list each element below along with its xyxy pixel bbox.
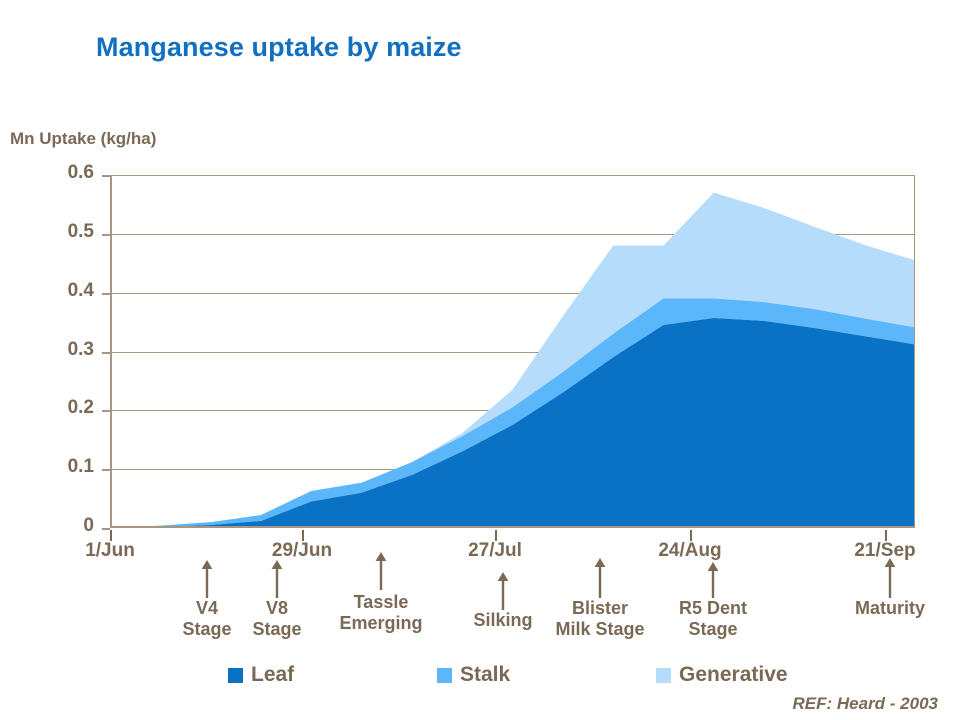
stage-label: V4Stage (182, 598, 231, 640)
legend-swatch-icon (228, 668, 243, 683)
stage-label-line2: Emerging (339, 613, 422, 634)
y-tick-label: 0.2 (32, 397, 94, 419)
page-title: Manganese uptake by maize (96, 32, 462, 63)
x-tick-label: 29/Jun (272, 540, 332, 562)
x-tick-label: 1/Jun (85, 540, 135, 562)
stage-label-line1: R5 Dent (679, 598, 747, 619)
stage-label-line2: Stage (252, 619, 301, 640)
stage-label-line2: Milk Stage (555, 619, 644, 640)
stage-label-line1: Blister (555, 598, 644, 619)
y-tick-mark (102, 234, 110, 236)
y-tick-label: 0.3 (32, 339, 94, 361)
legend-swatch-icon (656, 668, 671, 683)
y-axis-title: Mn Uptake (kg/ha) (10, 129, 156, 149)
x-tick-label: 27/Jul (468, 540, 522, 562)
y-tick-label: 0.4 (32, 280, 94, 302)
stage-arrow-icon (374, 552, 388, 590)
stage-arrow-icon (883, 558, 897, 598)
y-tick-label: 0.1 (32, 456, 94, 478)
stage-label-line1: Silking (473, 610, 532, 631)
y-tick-label: 0 (32, 515, 94, 537)
stacked-area-series (110, 175, 915, 528)
stage-label: R5 DentStage (679, 598, 747, 640)
stage-arrow-icon (200, 560, 214, 598)
legend-swatch-icon (437, 668, 452, 683)
stage-label-line1: V4 (182, 598, 231, 619)
plot-area (110, 175, 915, 528)
stage-arrow-icon (593, 558, 607, 598)
stage-label: Maturity (855, 598, 925, 619)
chart-legend: LeafStalkGenerative (0, 663, 960, 691)
legend-item-generative[interactable]: Generative (656, 663, 788, 687)
stage-label: V8Stage (252, 598, 301, 640)
legend-item-leaf[interactable]: Leaf (228, 663, 294, 687)
chart-page: Manganese uptake by maize Mn Uptake (kg/… (0, 0, 960, 720)
stage-label-line1: V8 (252, 598, 301, 619)
y-tick-mark (102, 352, 110, 354)
y-tick-mark (102, 175, 110, 177)
y-tick-mark (102, 293, 110, 295)
y-tick-mark (102, 469, 110, 471)
stage-arrow-icon (496, 572, 510, 610)
x-tick-label: 24/Aug (658, 540, 721, 562)
y-tick-mark (102, 410, 110, 412)
stage-label: Silking (473, 610, 532, 631)
y-tick-label: 0.5 (32, 221, 94, 243)
stage-arrow-icon (706, 562, 720, 598)
stage-label: BlisterMilk Stage (555, 598, 644, 640)
legend-label: Generative (679, 663, 788, 687)
legend-label: Leaf (251, 663, 294, 687)
stage-label-line1: Tassle (339, 592, 422, 613)
reference-note: REF: Heard - 2003 (793, 694, 939, 714)
legend-label: Stalk (460, 663, 510, 687)
stage-label: TassleEmerging (339, 592, 422, 634)
stage-label-line2: Stage (182, 619, 231, 640)
y-tick-mark (102, 528, 110, 530)
stage-label-line2: Stage (679, 619, 747, 640)
stage-label-line1: Maturity (855, 598, 925, 619)
y-tick-label: 0.6 (32, 162, 94, 184)
legend-item-stalk[interactable]: Stalk (437, 663, 510, 687)
stage-arrow-icon (270, 560, 284, 598)
